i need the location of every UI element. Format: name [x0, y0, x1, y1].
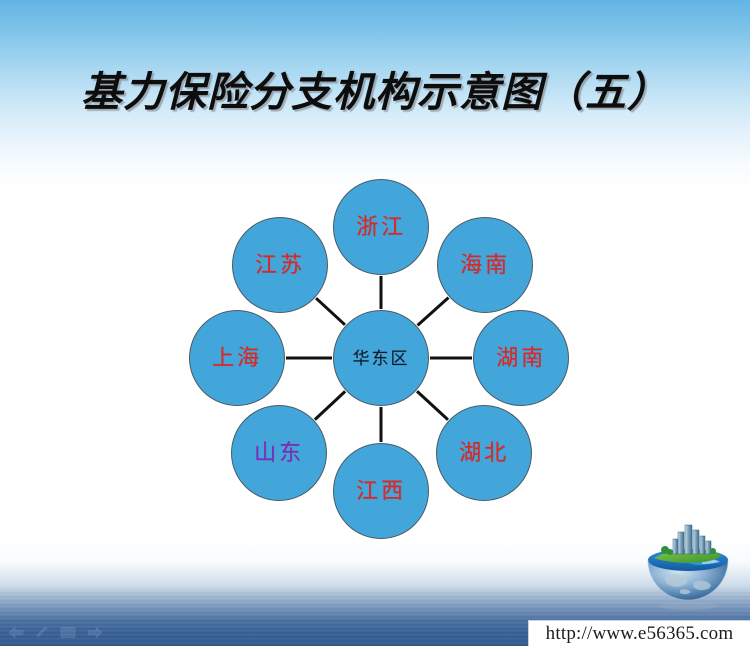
diagram-branch-node[interactable]: 山东 — [231, 405, 327, 501]
branch-node-label: 江苏 — [255, 254, 305, 276]
globe-city-logo — [640, 520, 736, 612]
branch-node-label: 上海 — [212, 347, 262, 369]
presentation-slide: 基力保险分支机构示意图（五） 浙江海南湖南湖北江西山东上海江苏华东区 — [0, 0, 750, 646]
branch-node-label: 湖南 — [496, 347, 546, 369]
branch-node-label: 江西 — [356, 480, 406, 502]
branch-node-label: 浙江 — [356, 216, 406, 238]
branch-node-label: 山东 — [254, 442, 304, 464]
connector-line — [316, 298, 345, 325]
branch-node-label: 湖北 — [459, 442, 509, 464]
org-structure-diagram: 浙江海南湖南湖北江西山东上海江苏华东区 — [0, 0, 750, 646]
watermark-url-plate: http://www.e56365.com — [528, 620, 750, 646]
diagram-branch-node[interactable]: 湖北 — [436, 405, 532, 501]
branch-node-label: 海南 — [460, 254, 510, 276]
diagram-branch-node[interactable]: 江西 — [333, 443, 429, 539]
diagram-branch-node[interactable]: 上海 — [189, 310, 285, 406]
center-node-label: 华东区 — [353, 350, 410, 367]
connector-line — [417, 391, 448, 420]
diagram-branch-node[interactable]: 海南 — [437, 217, 533, 313]
connector-line — [315, 391, 345, 419]
diagram-branch-node[interactable]: 湖南 — [473, 310, 569, 406]
diagram-branch-node[interactable]: 江苏 — [232, 217, 328, 313]
watermark-url: http://www.e56365.com — [546, 623, 734, 645]
diagram-branch-node[interactable]: 浙江 — [333, 179, 429, 275]
diagram-center-node[interactable]: 华东区 — [333, 310, 429, 406]
connector-line — [418, 298, 449, 326]
